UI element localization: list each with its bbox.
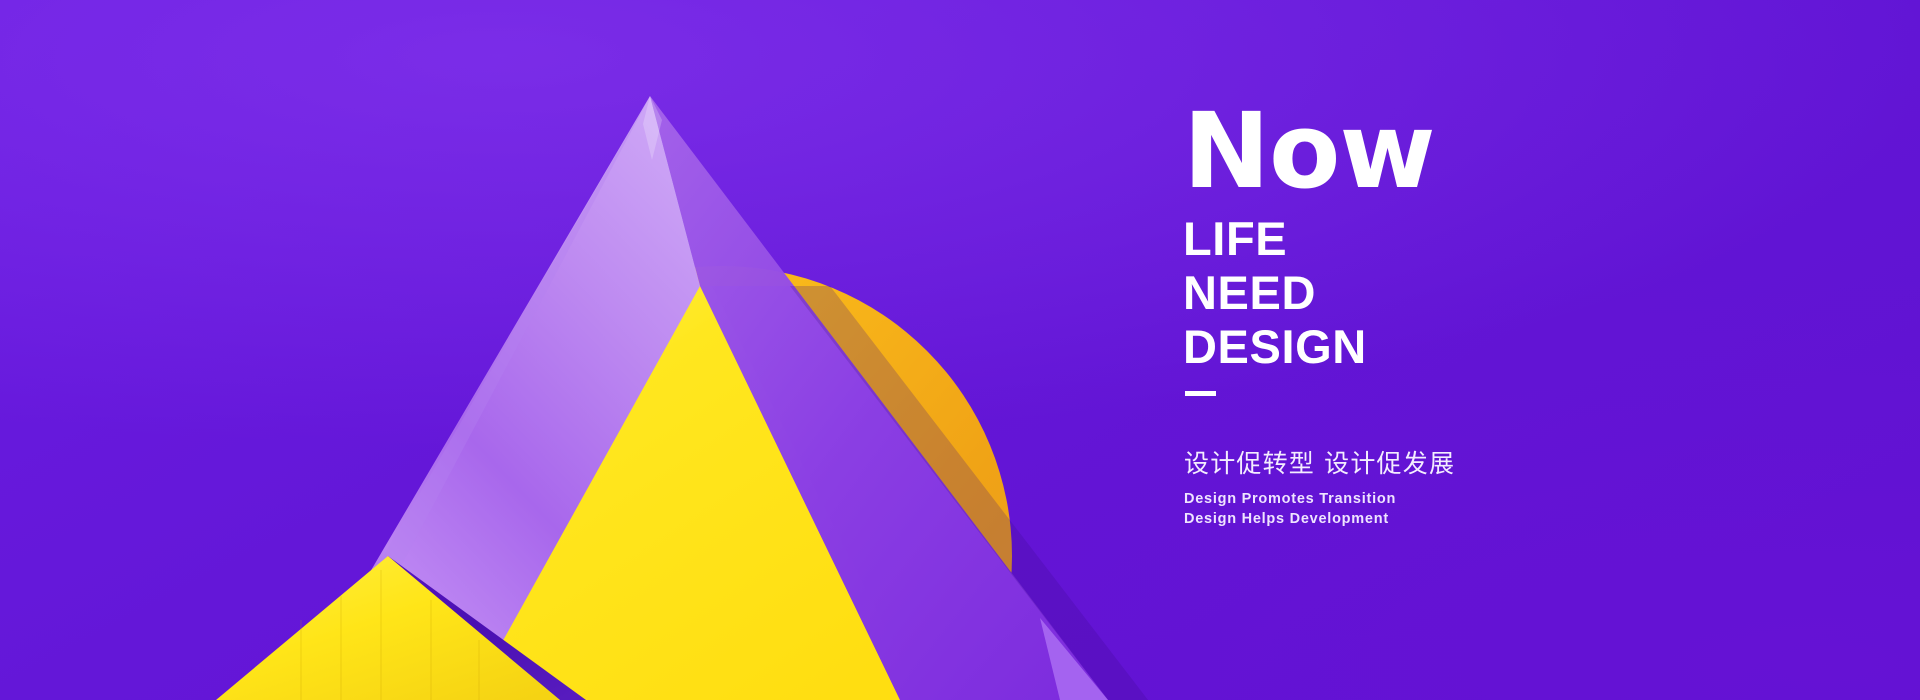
stack-line-need: NEED: [1183, 269, 1653, 316]
hero-banner: Now LIFE NEED DESIGN 设计促转型 设计促发展 Design …: [0, 0, 1920, 700]
stack-line-life: LIFE: [1183, 215, 1653, 262]
hero-copy: Now LIFE NEED DESIGN 设计促转型 设计促发展 Design …: [1183, 108, 1653, 530]
headline-now: Now: [1183, 108, 1653, 195]
tagline-chinese: 设计促转型 设计促发展: [1184, 448, 1653, 479]
divider-rule: [1185, 391, 1216, 396]
stack-line-design: DESIGN: [1183, 323, 1653, 370]
tagline-english-line1: Design Promotes Transition: [1184, 489, 1653, 510]
tagline-english-line2: Design Helps Development: [1184, 509, 1653, 530]
